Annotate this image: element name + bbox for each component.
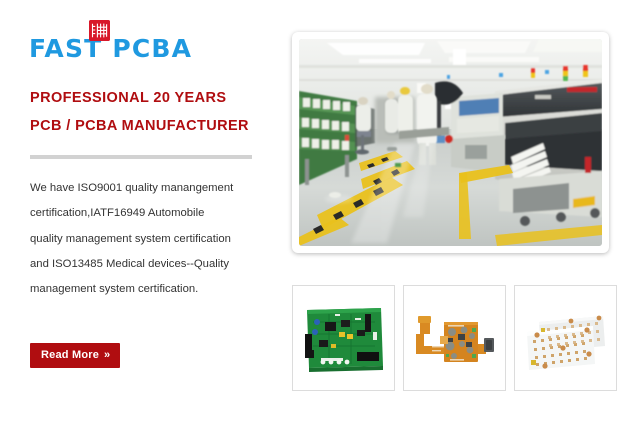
product-thumbnail-green-pcb[interactable] xyxy=(292,285,395,391)
intro-paragraph-line-1: We have ISO9001 quality manangement xyxy=(30,176,278,201)
brand-logo[interactable]: FAST PCBA xyxy=(29,25,192,61)
intro-paragraph-line-3: quality management system certification xyxy=(30,227,278,252)
double-chevron-right-icon: » xyxy=(104,349,109,361)
logo-wordmark-pcba: PCBA xyxy=(112,34,192,63)
product-thumbnail-flex-pcb[interactable] xyxy=(403,285,506,391)
intro-paragraph-line-4: and ISO13485 Medical devices--Quality xyxy=(30,252,278,277)
white-led-pcb-thumbnail-icon xyxy=(517,288,614,388)
product-thumbnail-led-pcb[interactable] xyxy=(514,285,617,391)
intro-paragraph-line-5: management system certification. xyxy=(30,277,278,302)
red-chinese-seal-stamp-icon xyxy=(89,20,110,41)
orange-flex-pcb-thumbnail-icon xyxy=(406,288,503,388)
factory-line-photo xyxy=(299,39,602,246)
left-content-column: FAST PCBA xyxy=(0,0,288,430)
read-more-button[interactable]: Read More » xyxy=(30,343,120,368)
intro-paragraph-line-2: certification,IATF16949 Automobile xyxy=(30,201,278,226)
page-headline: PROFESSIONAL 20 YEARS PCB / PCBA MANUFAC… xyxy=(30,84,270,141)
logo-wordmark: FAST PCBA xyxy=(29,36,192,61)
headline-line-1: PROFESSIONAL 20 YEARS xyxy=(30,84,270,112)
read-more-label: Read More xyxy=(41,349,99,361)
intro-paragraph: We have ISO9001 quality manangement cert… xyxy=(30,176,278,302)
right-media-column xyxy=(288,0,632,430)
headline-line-2: PCB / PCBA MANUFACTURER xyxy=(30,112,270,140)
hero-photo-frame[interactable] xyxy=(292,32,609,253)
green-pcb-thumbnail-icon xyxy=(295,288,392,388)
headline-divider xyxy=(30,155,252,159)
product-thumbnail-row xyxy=(292,285,617,391)
